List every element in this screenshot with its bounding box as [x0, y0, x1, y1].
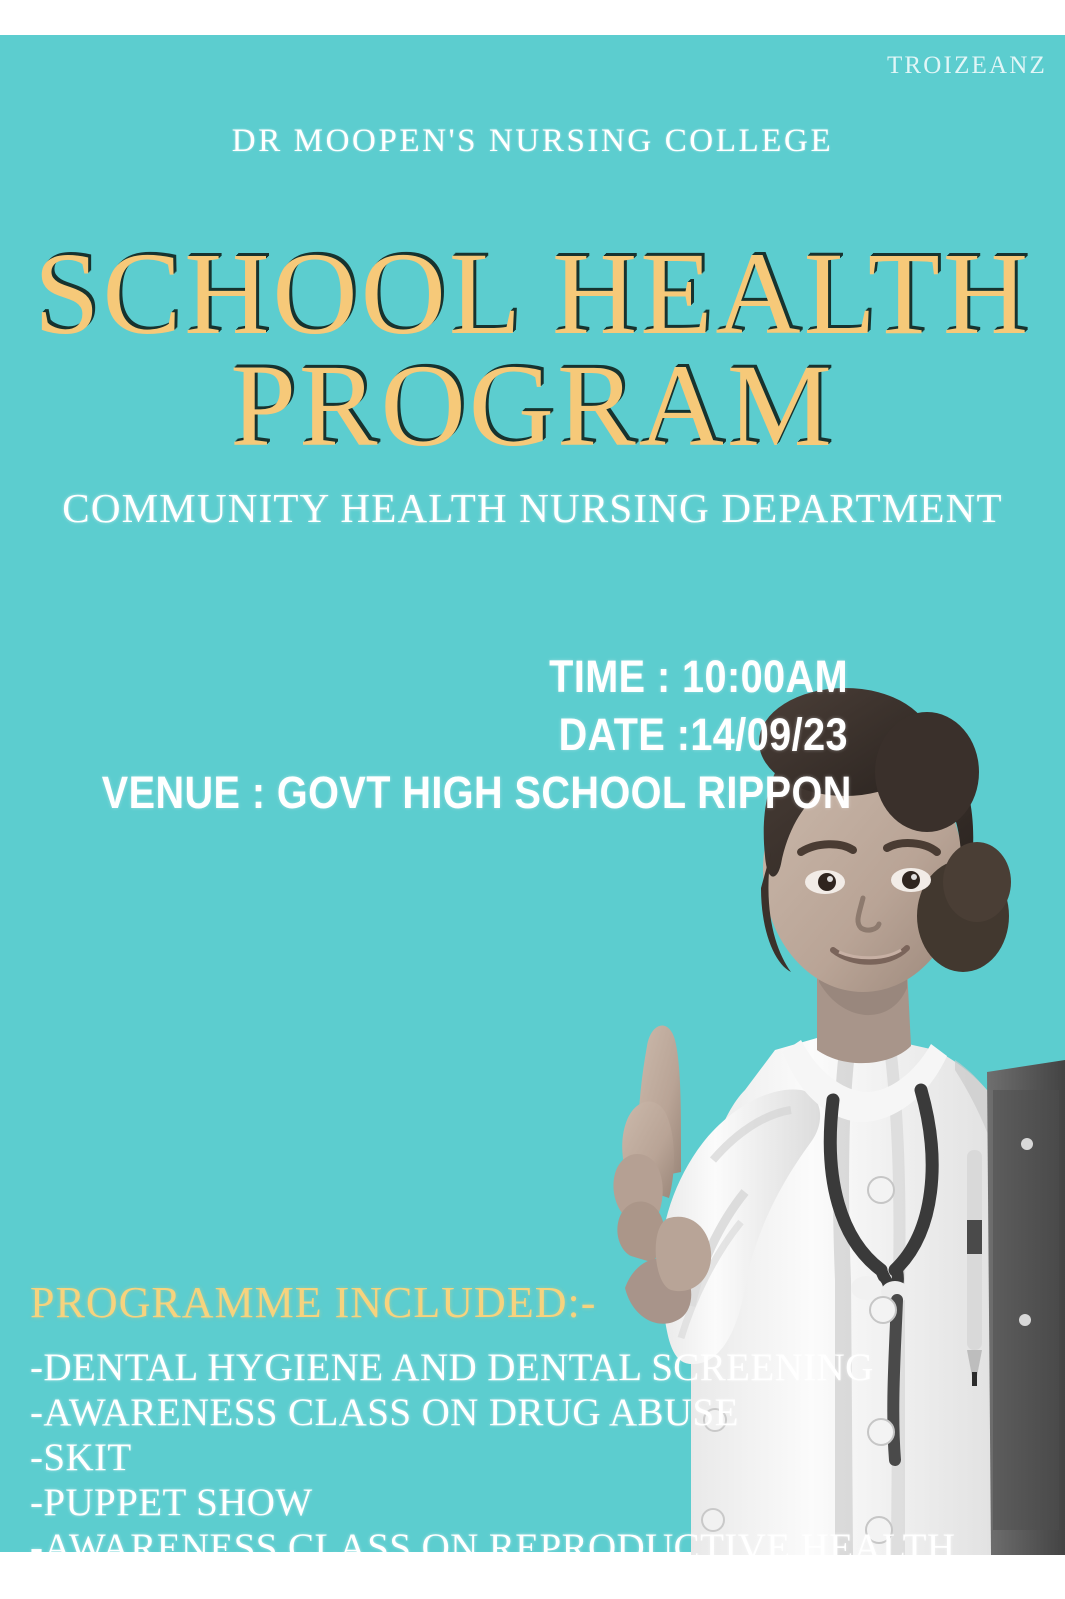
detail-time: TIME : 10:00AM	[102, 648, 848, 706]
programme-section: PROGRAMME INCLUDED:- -DENTAL HYGIENE AND…	[30, 1277, 990, 1570]
event-details: TIME : 10:00AM DATE :14/09/23 VENUE : GO…	[0, 648, 848, 822]
programme-list: -DENTAL HYGIENE AND DENTAL SCREENING -AW…	[30, 1345, 990, 1570]
title-line-1: SCHOOL HEALTH	[0, 238, 1065, 350]
list-item: -SKIT	[30, 1435, 990, 1480]
list-item: -PUPPET SHOW	[30, 1480, 990, 1525]
watermark-label: TROIZEANZ	[887, 52, 1047, 80]
page-title: SCHOOL HEALTH PROGRAM	[0, 238, 1065, 462]
detail-venue: VENUE : GOVT HIGH SCHOOL RIPPON	[102, 764, 848, 822]
list-item: -DENTAL HYGIENE AND DENTAL SCREENING	[30, 1345, 990, 1390]
poster-root: TROIZEANZ DR MOOPEN'S NURSING COLLEGE SC…	[0, 0, 1065, 1599]
list-item: -AWARENESS CLASS ON REPRODUCTIVE HEALTH	[30, 1525, 990, 1570]
department-subtitle: COMMUNITY HEALTH NURSING DEPARTMENT	[0, 484, 1065, 532]
programme-heading: PROGRAMME INCLUDED:-	[30, 1277, 990, 1329]
title-line-2: PROGRAM	[0, 350, 1065, 462]
detail-date: DATE :14/09/23	[102, 706, 848, 764]
institution-name: DR MOOPEN'S NURSING COLLEGE	[0, 123, 1065, 160]
list-item: -AWARENESS CLASS ON DRUG ABUSE	[30, 1390, 990, 1435]
